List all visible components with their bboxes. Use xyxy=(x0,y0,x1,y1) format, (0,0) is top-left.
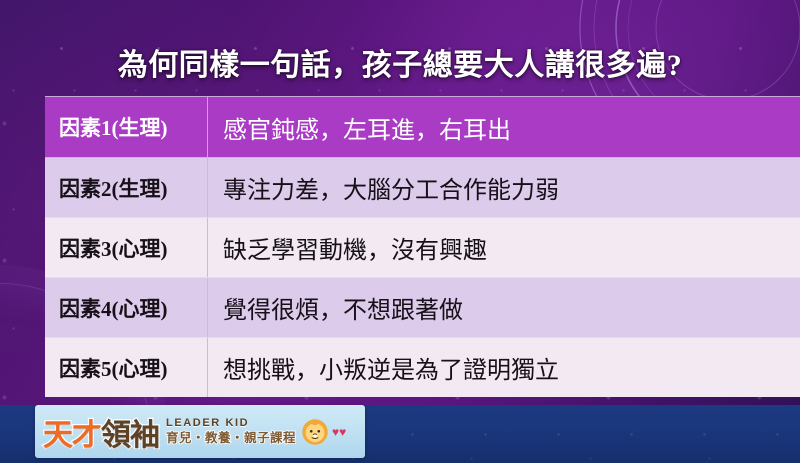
column-divider xyxy=(207,338,208,397)
row-text: 缺乏學習動機，沒有興趣 xyxy=(207,230,800,265)
row-text: 覺得很煩，不想跟著做 xyxy=(207,290,800,325)
column-divider xyxy=(207,278,208,337)
logo-tagline-group: LEADER KID 育兒・教養・親子課程 xyxy=(166,418,296,445)
row-text: 想挑戰，小叛逆是為了證明獨立 xyxy=(207,350,800,385)
table-row[interactable]: 因素2(生理) 專注力差，大腦分工合作能力弱 xyxy=(45,157,800,217)
lion-icon xyxy=(300,417,330,447)
logo-wordmark: 天才領袖 xyxy=(43,410,159,454)
logo-english-text: LEADER KID xyxy=(166,418,296,430)
slide-canvas: 020 030 040 050 為何同樣一句話，孩子總要大人講很多遍? 因素1(… xyxy=(0,0,800,463)
row-label: 因素2(生理) xyxy=(45,173,207,203)
row-text: 感官鈍感，左耳進，右耳出 xyxy=(207,110,800,145)
brand-logo[interactable]: 天才領袖 LEADER KID 育兒・教養・親子課程 ♥♥ xyxy=(35,405,365,458)
hearts-icon: ♥♥ xyxy=(332,426,346,438)
row-label: 因素1(生理) xyxy=(45,112,207,142)
row-label: 因素3(心理) xyxy=(45,233,207,263)
column-divider xyxy=(207,218,208,277)
table-row[interactable]: 因素3(心理) 缺乏學習動機，沒有興趣 xyxy=(45,217,800,277)
logo-text-orange: 天才 xyxy=(43,410,101,454)
page-title: 為何同樣一句話，孩子總要大人講很多遍? xyxy=(0,40,800,84)
table-row[interactable]: 因素5(心理) 想挑戰，小叛逆是為了證明獨立 xyxy=(45,337,800,397)
logo-text-brown: 領袖 xyxy=(101,410,159,454)
row-label: 因素4(心理) xyxy=(45,293,207,323)
column-divider xyxy=(207,158,208,217)
column-divider xyxy=(207,97,208,157)
table-row[interactable]: 因素1(生理) 感官鈍感，左耳進，右耳出 xyxy=(45,97,800,157)
table-row[interactable]: 因素4(心理) 覺得很煩，不想跟著做 xyxy=(45,277,800,337)
row-label: 因素5(心理) xyxy=(45,353,207,383)
row-text: 專注力差，大腦分工合作能力弱 xyxy=(207,170,800,205)
logo-subtitle: 育兒・教養・親子課程 xyxy=(166,432,296,445)
factors-table: 因素1(生理) 感官鈍感，左耳進，右耳出 因素2(生理) 專注力差，大腦分工合作… xyxy=(45,96,800,397)
